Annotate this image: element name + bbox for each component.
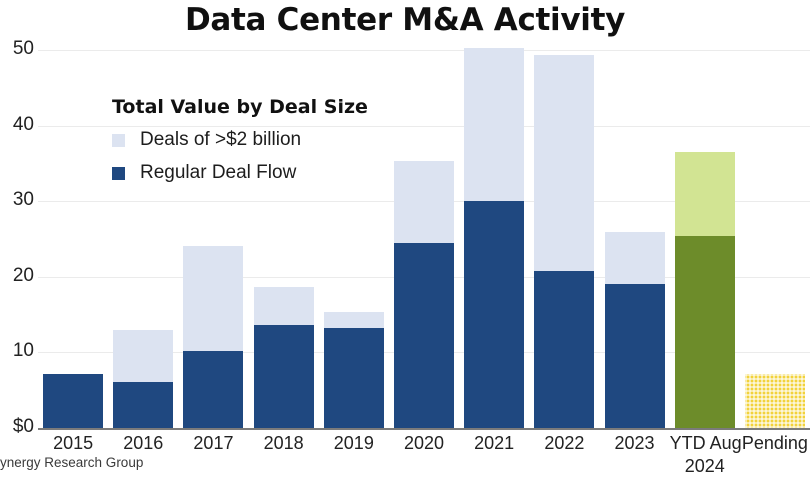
bar-segment-regular[interactable]	[113, 382, 173, 428]
bar-segment-large-deals[interactable]	[324, 312, 384, 329]
bar-group[interactable]	[605, 0, 665, 430]
x-axis-label-2015: 2015	[38, 432, 108, 455]
x-axis-label-pending: Pending	[740, 432, 810, 455]
chart-legend: Total Value by Deal Size Deals of >$2 bi…	[112, 96, 392, 195]
legend-label-large-deals: Deals of >$2 billion	[140, 129, 301, 151]
bar-segment-regular[interactable]	[183, 351, 243, 428]
y-axis-tick-20: 20	[0, 265, 34, 287]
bar-segment-regular[interactable]	[745, 374, 805, 428]
x-axis-label-2016: 2016	[108, 432, 178, 455]
y-axis-tick-30: 30	[0, 189, 34, 211]
x-axis-labels: 201520162017201820192020202120222023YTD …	[38, 432, 810, 480]
bar-segment-large-deals[interactable]	[605, 232, 665, 283]
x-axis-label-2021: 2021	[459, 432, 529, 455]
bar-group[interactable]	[675, 0, 735, 430]
bar-segment-regular[interactable]	[534, 271, 594, 428]
bar-group[interactable]	[534, 0, 594, 430]
bar-segment-regular[interactable]	[675, 236, 735, 428]
bar-group[interactable]	[394, 0, 454, 430]
y-axis-tick-0: $0	[0, 416, 34, 438]
legend-label-regular-deals: Regular Deal Flow	[140, 162, 296, 184]
bar-segment-regular[interactable]	[324, 328, 384, 428]
bar-segment-regular[interactable]	[254, 325, 314, 428]
y-axis-tick-50: 50	[0, 38, 34, 60]
bar-group[interactable]	[745, 0, 805, 430]
x-axis-label-2020: 2020	[389, 432, 459, 455]
chart-root: Data Center M&A Activity $01020304050 20…	[0, 0, 810, 480]
bar-group[interactable]	[254, 0, 314, 430]
y-axis-tick-40: 40	[0, 114, 34, 136]
bar-segment-regular[interactable]	[605, 284, 665, 428]
bar-segment-large-deals[interactable]	[183, 246, 243, 351]
bar-group[interactable]	[464, 0, 524, 430]
x-axis-label-2017: 2017	[178, 432, 248, 455]
x-axis-label-2022: 2022	[529, 432, 599, 455]
source-note: e: Synergy Research Group	[0, 455, 143, 470]
bar-segment-regular[interactable]	[394, 243, 454, 428]
legend-swatch-large-deals	[112, 134, 125, 147]
bar-segment-regular[interactable]	[43, 374, 103, 428]
bar-group[interactable]	[183, 0, 243, 430]
bar-segment-regular[interactable]	[464, 201, 524, 428]
x-axis-label-ytd-aug-2024: YTD Aug2024	[670, 432, 740, 478]
bar-segment-large-deals[interactable]	[254, 287, 314, 326]
legend-item-regular-deals: Regular Deal Flow	[112, 162, 392, 184]
x-axis-label-2023: 2023	[599, 432, 669, 455]
legend-swatch-regular-deals	[112, 167, 125, 180]
bar-segment-large-deals[interactable]	[464, 48, 524, 201]
y-axis-tick-10: 10	[0, 340, 34, 362]
bar-segment-large-deals[interactable]	[675, 152, 735, 236]
bar-series-container	[38, 0, 810, 430]
bar-segment-large-deals[interactable]	[534, 55, 594, 271]
bar-group[interactable]	[43, 0, 103, 430]
bar-group[interactable]	[113, 0, 173, 430]
legend-title: Total Value by Deal Size	[112, 96, 392, 118]
x-axis-label-2018: 2018	[249, 432, 319, 455]
bar-segment-large-deals[interactable]	[394, 161, 454, 243]
bar-segment-large-deals[interactable]	[113, 330, 173, 381]
bar-group[interactable]	[324, 0, 384, 430]
legend-item-large-deals: Deals of >$2 billion	[112, 129, 392, 151]
x-axis-label-2019: 2019	[319, 432, 389, 455]
